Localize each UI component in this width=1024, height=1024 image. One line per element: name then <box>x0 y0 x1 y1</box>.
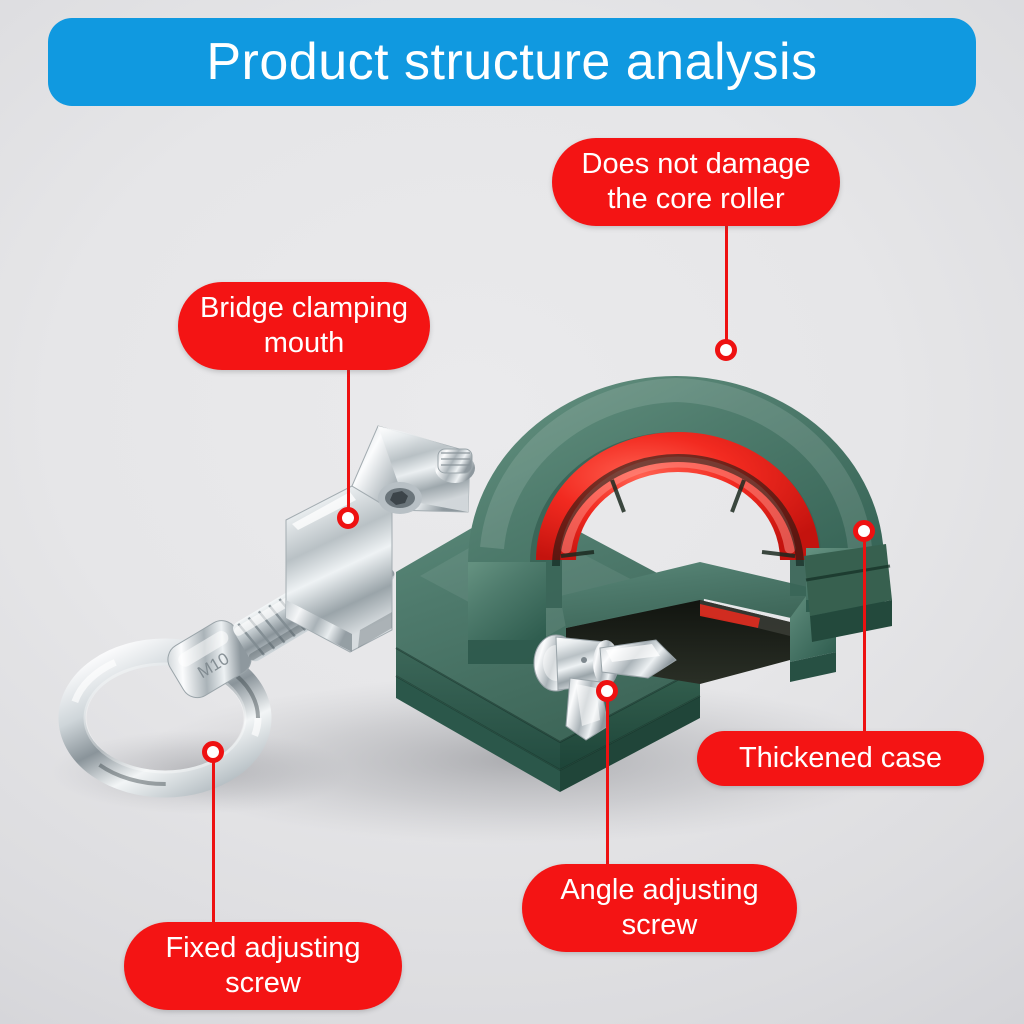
leader-line-angle <box>606 701 609 866</box>
product-illustration: M10 <box>0 0 1024 1024</box>
callout-angle-line1: Angle adjusting <box>560 873 758 908</box>
leader-line-thickened <box>863 541 866 731</box>
marker-dot-thickened <box>853 520 875 542</box>
callout-fixed-adjusting-screw[interactable]: Fixed adjusting screw <box>124 922 402 1010</box>
marker-dot-core-roller <box>715 339 737 361</box>
leader-line-bridge <box>347 360 350 520</box>
infographic-canvas: M10 <box>0 0 1024 1024</box>
marker-dot-fixed <box>202 741 224 763</box>
callout-thickened-case[interactable]: Thickened case <box>697 731 984 786</box>
callout-thickened-line1: Thickened case <box>739 741 942 776</box>
callout-bridge-line1: Bridge clamping <box>200 291 408 326</box>
callout-fixed-line1: Fixed adjusting <box>165 931 360 966</box>
callout-bridge-line2: mouth <box>264 326 345 361</box>
leader-line-fixed <box>212 762 215 924</box>
leader-line-core-roller <box>725 218 728 352</box>
marker-dot-angle <box>596 680 618 702</box>
callout-fixed-line2: screw <box>225 966 301 1001</box>
callout-core-roller[interactable]: Does not damage the core roller <box>552 138 840 226</box>
callout-core-roller-line1: Does not damage <box>582 147 811 182</box>
marker-dot-bridge <box>337 507 359 529</box>
thickened-case-tip <box>804 544 892 642</box>
callout-core-roller-line2: the core roller <box>607 182 784 217</box>
title-banner: Product structure analysis <box>48 18 976 106</box>
page-title: Product structure analysis <box>206 36 817 88</box>
callout-angle-line2: screw <box>622 908 698 943</box>
callout-bridge-clamping-mouth[interactable]: Bridge clamping mouth <box>178 282 430 370</box>
callout-angle-adjusting-screw[interactable]: Angle adjusting screw <box>522 864 797 952</box>
